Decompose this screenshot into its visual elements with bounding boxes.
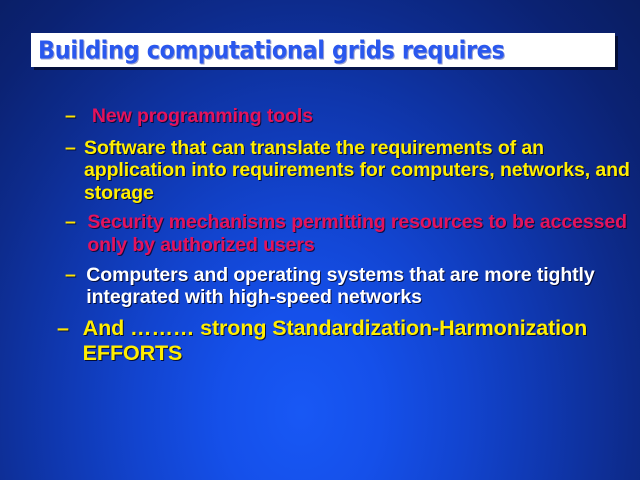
bullet-dash-icon: – [65, 264, 76, 287]
list-item: – Computers and operating systems that a… [0, 264, 640, 309]
bullet-dash-icon: – [65, 211, 76, 234]
title-box: Building computational grids requires [31, 33, 615, 67]
page-title: Building computational grids requires [38, 36, 505, 65]
list-item: – Security mechanisms permitting resourc… [0, 211, 640, 256]
bullet-dash-icon: – [57, 316, 69, 341]
list-item: – New programming tools [0, 105, 640, 128]
list-item-text: New programming tools [92, 105, 640, 128]
bullet-list: – New programming tools – Software that … [0, 105, 640, 372]
bullet-dash-icon: – [65, 105, 76, 128]
list-item-text: Software that can translate the requirem… [84, 137, 640, 205]
list-item: – And ……… strong Standardization-Harmoni… [0, 316, 640, 366]
list-item-text: And ……… strong Standardization-Harmoniza… [83, 316, 640, 366]
slide-canvas: Building computational grids requires – … [0, 0, 640, 480]
bullet-dash-icon: – [65, 137, 76, 160]
list-item-text: Security mechanisms permitting resources… [87, 211, 640, 256]
list-item: – Software that can translate the requir… [0, 137, 640, 205]
list-item-text: Computers and operating systems that are… [86, 264, 640, 309]
